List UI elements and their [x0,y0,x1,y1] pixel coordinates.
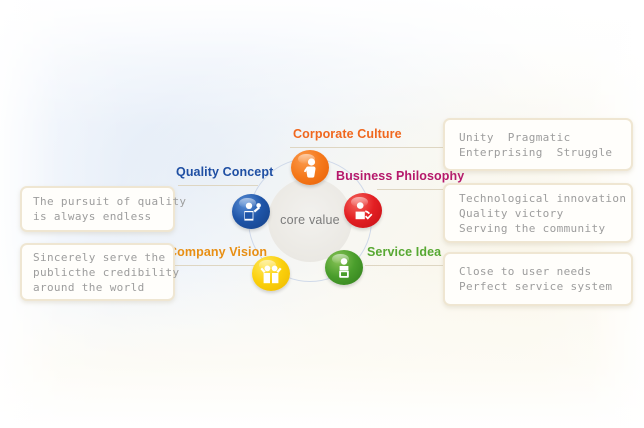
core-value-label: core value [280,213,340,227]
info-box-corporate-culture-text: Unity Pragmatic Enterprising Struggle [445,130,626,160]
info-box-quality-concept-text: The pursuit of quality is always endless [22,194,197,224]
person-standing-icon [300,157,320,179]
person-reading-icon [352,201,374,221]
person-service-icon [334,257,354,279]
info-box-service-idea: Close to user needs Perfect service syst… [443,252,633,306]
connector-line-quality-concept [178,185,258,186]
node-quality-concept[interactable] [232,194,270,229]
info-box-company-vision: Sincerely serve the publicthe credibilit… [20,243,175,301]
info-box-company-vision-text: Sincerely serve the publicthe credibilit… [22,250,190,295]
connector-line-service-idea [365,265,445,266]
node-corporate-culture[interactable] [291,150,329,185]
connector-line-business-philosophy [377,189,445,190]
label-corporate-culture: Corporate Culture [293,127,402,141]
connector-line-corporate-culture [290,147,445,148]
info-box-business-philosophy: Technological innovation Quality victory… [443,183,633,243]
people-celebrating-icon [259,263,283,284]
label-business-philosophy: Business Philosophy [336,169,464,183]
info-box-corporate-culture: Unity Pragmatic Enterprising Struggle [443,118,633,171]
info-box-business-philosophy-text: Technological innovation Quality victory… [445,191,640,236]
node-company-vision[interactable] [252,256,290,291]
person-globe-icon [240,201,262,222]
info-box-service-idea-text: Close to user needs Perfect service syst… [445,264,626,294]
core-value-diagram: core value [0,0,644,428]
node-business-philosophy[interactable] [344,193,382,228]
label-service-idea: Service Idea [367,245,441,259]
info-box-quality-concept: The pursuit of quality is always endless [20,186,175,232]
label-quality-concept: Quality Concept [176,165,273,179]
node-service-idea[interactable] [325,250,363,285]
